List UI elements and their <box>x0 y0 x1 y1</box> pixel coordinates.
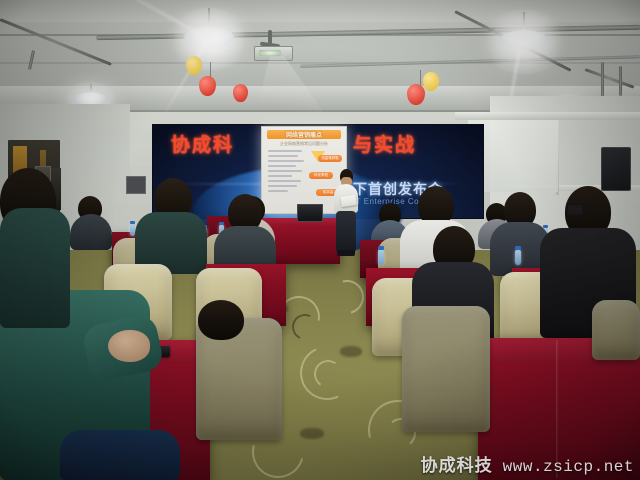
projector-lens <box>259 50 281 56</box>
balloon-string-2 <box>420 70 421 86</box>
presenter-handout <box>340 195 356 207</box>
bottle-cap <box>515 246 521 250</box>
water-bottle <box>378 250 384 265</box>
conference-room-photo: 协成科 与实战 下首创发布会 IT Enterprise Conference … <box>0 0 640 480</box>
wall-trim-right <box>455 112 640 120</box>
chair <box>402 306 490 432</box>
slide-callout-1: 流量难获取 <box>318 155 342 162</box>
balloon-red-1 <box>199 76 216 96</box>
watermark-company: 协成科技 <box>421 451 493 476</box>
water-bottle <box>515 250 521 265</box>
presenter-trousers <box>336 211 356 253</box>
bottle-cap <box>543 225 548 228</box>
slide-subheader: 企业网络营销常见问题分析 <box>267 141 341 147</box>
watermark: 协成科技 www.zsicp.net <box>421 451 634 476</box>
lamp-glare-2 <box>480 10 568 74</box>
slide-header: 网络营销痛点 <box>267 130 341 139</box>
balloon-yellow-1 <box>186 56 202 75</box>
bottle-cap <box>130 221 135 224</box>
slide-callout-2: 转化率低 <box>309 172 333 179</box>
balloon-red-3 <box>233 84 248 102</box>
presenter-shoes <box>337 250 355 256</box>
wall-speaker-icon <box>601 147 631 191</box>
ceiling-drop-rod-2 <box>619 66 622 96</box>
chair <box>592 300 640 360</box>
bottle-cap <box>219 222 224 225</box>
banner-title-left: 协成科 <box>171 130 234 157</box>
glasses-icon <box>566 203 584 216</box>
watermark-url: www.zsicp.net <box>503 458 634 476</box>
banner-title-right: 与实战 <box>353 130 416 157</box>
bottle-cap <box>378 246 384 250</box>
balloon-yellow-2 <box>423 72 439 91</box>
attendee-head-foreground-mid <box>198 300 244 340</box>
attendee-torso-far-5 <box>70 214 112 250</box>
attendee-torso-foreground-left2 <box>0 208 70 328</box>
attendee-hand-foreground <box>108 330 150 362</box>
wall-fixture <box>126 176 146 194</box>
laptop-at-front <box>297 204 323 222</box>
balloon-red-2 <box>407 84 425 105</box>
attendee-jeans-foreground <box>60 430 180 480</box>
